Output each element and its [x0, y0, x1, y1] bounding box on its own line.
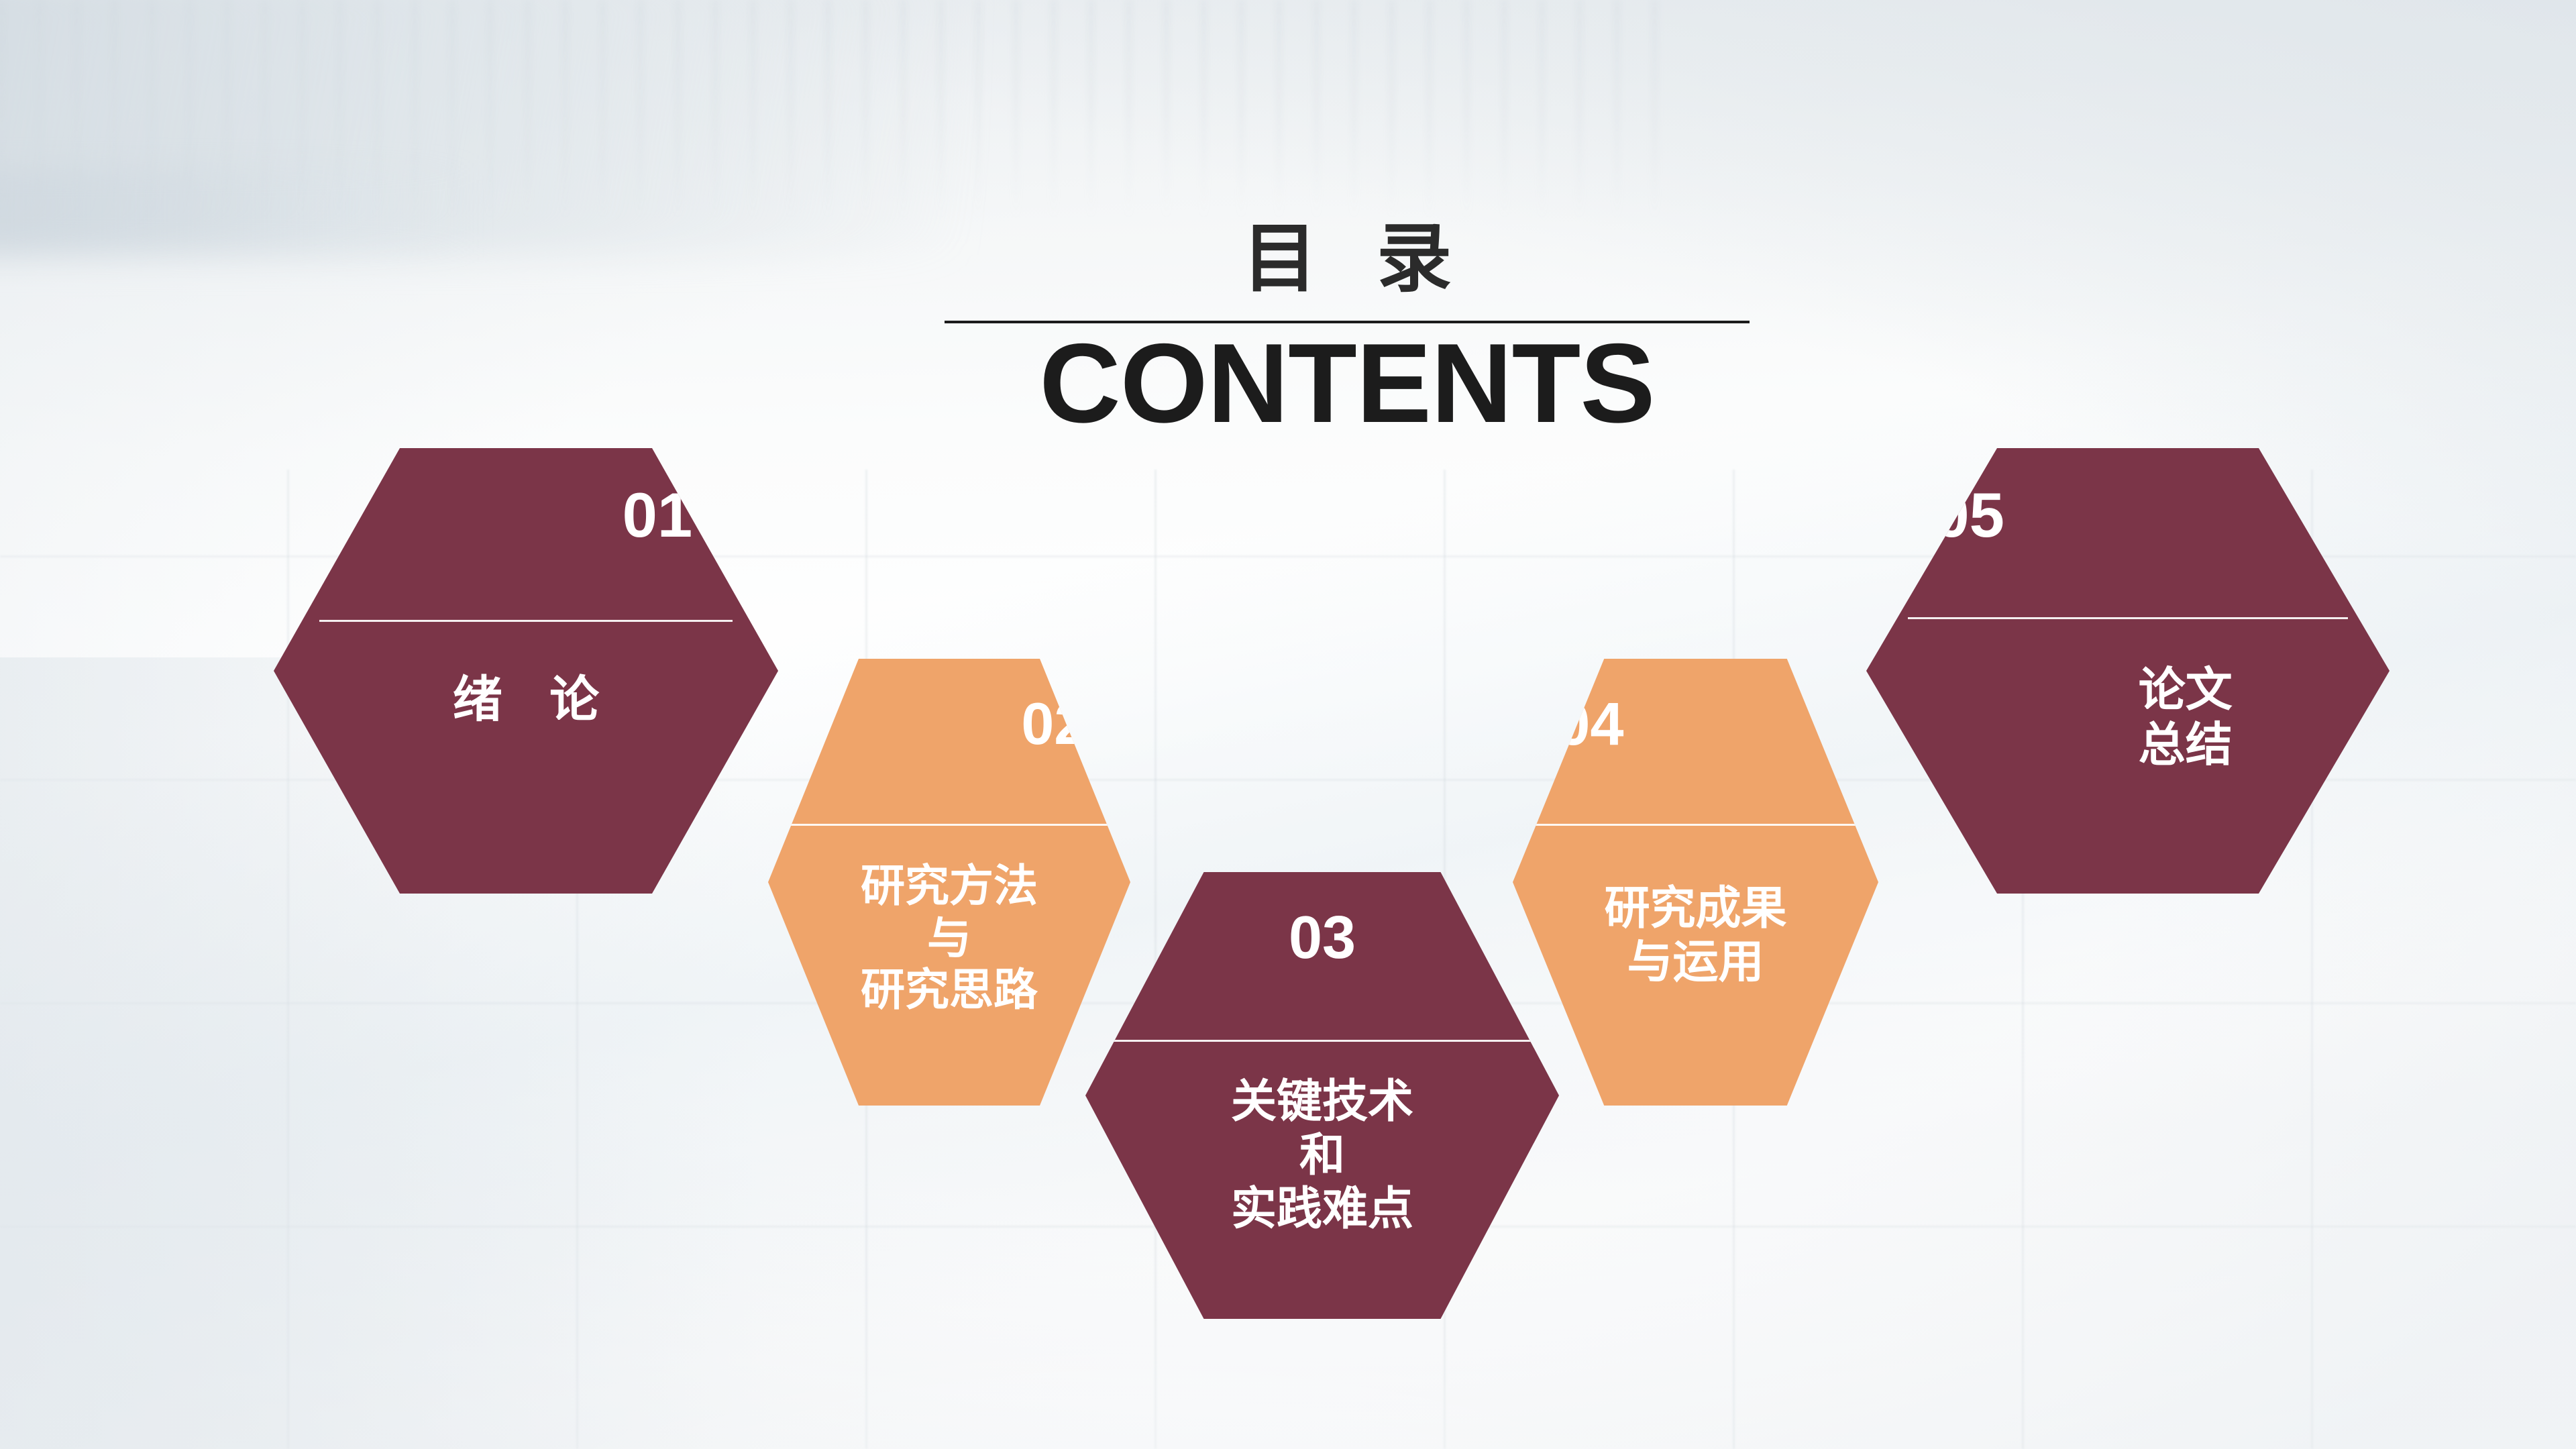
section-label-line: 实践难点	[1133, 1183, 1512, 1236]
section-label-line: 研究成果	[1550, 882, 1842, 936]
title-english: CONTENTS	[945, 326, 1750, 441]
section-label-line: 研究思路	[804, 964, 1094, 1016]
section-label-line: 与运用	[1550, 936, 1842, 989]
section-label-line: 关键技术	[1133, 1075, 1512, 1129]
section-label-line: 总结	[1982, 717, 2390, 773]
contents-slide: 目 录 CONTENTS 01 绪 论 02 研究方法 与 研究思路 03 关键…	[0, 0, 2576, 1449]
section-label-02: 研究方法 与 研究思路	[768, 860, 1130, 1017]
section-label-line: 与	[804, 912, 1094, 965]
title-chinese: 目 录	[945, 221, 1750, 297]
section-divider-05	[1908, 617, 2347, 619]
section-divider-01	[319, 620, 733, 622]
section-label-line: 绪 论	[324, 671, 728, 729]
page-title: 目 录 CONTENTS	[945, 221, 1750, 441]
section-label-05: 论文 总结	[1866, 662, 2390, 773]
section-label-line: 论文	[1982, 662, 2390, 718]
section-label-line: 研究方法	[804, 860, 1094, 912]
section-divider-04	[1520, 824, 1871, 826]
section-label-line: 和	[1133, 1129, 1512, 1183]
section-divider-02	[775, 824, 1123, 826]
section-label-01: 绪 论	[274, 671, 778, 729]
section-label-03: 关键技术 和 实践难点	[1085, 1075, 1559, 1237]
section-label-04: 研究成果 与运用	[1513, 882, 1878, 989]
background-left-band	[0, 168, 483, 248]
section-divider-03	[1109, 1040, 1535, 1042]
